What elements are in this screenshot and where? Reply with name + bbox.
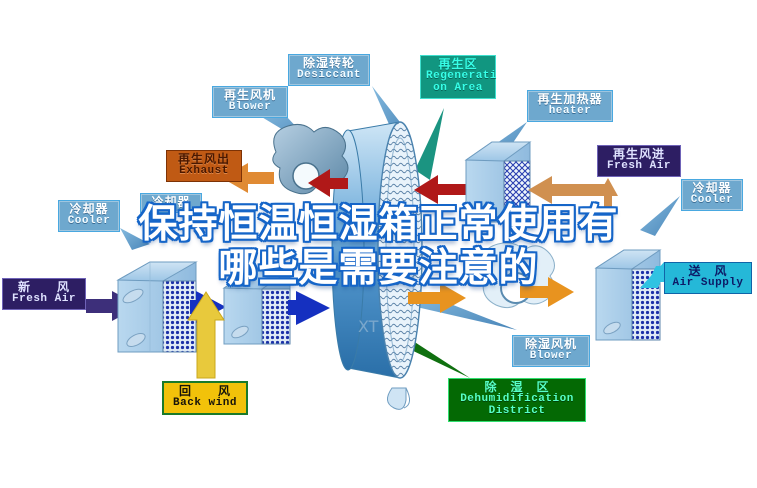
label-fresh-air-inlet: 新 风 Fresh Air (2, 278, 86, 310)
label-en: Back wind (169, 398, 241, 410)
label-cn: 除湿转轮 (294, 57, 364, 70)
rotor-watermark: XT (358, 317, 379, 336)
arrow-regen-through (414, 175, 466, 204)
label-cooler-left-b: 冷却器 (140, 193, 202, 213)
cooler-coil-supply (596, 250, 660, 340)
label-en: Desiccant (294, 70, 364, 82)
label-dehumidification-blower: 除湿风机 Blower (512, 335, 590, 367)
label-cn: 再生风出 (172, 153, 236, 166)
label-cn: 冷却器 (687, 182, 737, 195)
label-cn: 再生加热器 (533, 93, 607, 106)
label-en: Exhaust (172, 166, 236, 178)
label-en-2: District (454, 406, 580, 418)
label-cn: 送 风 (670, 265, 746, 278)
label-en-2: on Area (426, 83, 490, 95)
label-cn: 除湿风机 (518, 338, 584, 351)
label-cn: 冷却器 (64, 203, 114, 216)
label-regeneration-exhaust: 再生风出 Exhaust (166, 150, 242, 182)
dehumidifier-diagram: XT (0, 0, 757, 488)
label-cooler-left-a: 冷却器 Cooler (58, 200, 120, 232)
label-cooler-right: 冷却器 Cooler (681, 179, 743, 211)
label-cn: 冷却器 (146, 196, 196, 209)
label-en: Cooler (64, 216, 114, 228)
label-en: Blower (518, 351, 584, 363)
label-back-wind: 回 风 Back wind (162, 381, 248, 415)
label-cn: 再生区 (426, 58, 490, 71)
label-en: Cooler (687, 195, 737, 207)
arrow-fresh-air-heater (528, 176, 610, 204)
label-dehumidification-district: 除 湿 区 Dehumidification District (448, 378, 586, 422)
label-regeneration-area: 再生区 Regenerati on Area (420, 55, 496, 99)
label-regeneration-heater: 再生加热器 heater (527, 90, 613, 122)
label-en: Blower (218, 102, 282, 114)
label-regeneration-fresh-air: 再生风进 Fresh Air (597, 145, 681, 177)
label-cn: 回 风 (169, 385, 241, 398)
regeneration-heater-coil (466, 142, 530, 222)
cooler-coil-left (118, 262, 196, 352)
label-cn: 再生风机 (218, 89, 282, 102)
label-cn: 除 湿 区 (454, 381, 580, 394)
label-cn: 新 风 (8, 281, 80, 294)
label-air-supply: 送 风 Air Supply (664, 262, 752, 294)
label-regeneration-blower: 再生风机 Blower (212, 86, 288, 118)
label-en: Fresh Air (8, 294, 80, 306)
label-desiccant-wheel: 除湿转轮 Desiccant (288, 54, 370, 86)
label-en: heater (533, 106, 607, 118)
label-cn: 再生风进 (603, 148, 675, 161)
label-en: Air Supply (670, 278, 746, 290)
arrow-process-2 (288, 291, 330, 325)
cooler-coil-mid (224, 270, 290, 344)
diagram-artwork: XT (0, 0, 757, 488)
label-en: Fresh Air (603, 161, 675, 173)
